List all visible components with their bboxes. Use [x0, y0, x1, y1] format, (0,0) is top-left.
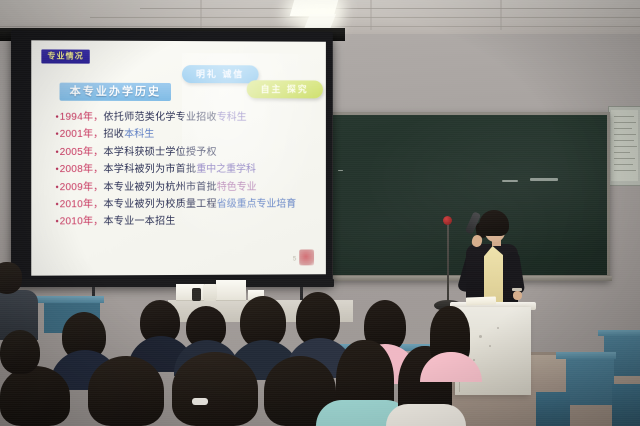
student-head — [0, 366, 70, 426]
bullet-highlight: 特色专业 — [217, 181, 257, 193]
student-shoulders — [386, 404, 466, 426]
slide-content: 专业情况 明礼 诚信 自主 探究 本专业办学历史 • 1994年， 依托师范类化… — [31, 40, 326, 275]
slide-section-header: 本专业办学历史 — [60, 83, 171, 101]
list-item: • 2010年， 本专业被列为校质量工程 省级重点专业培育 — [55, 198, 319, 212]
bullet-body: 本学科被列为市首批 — [103, 164, 196, 176]
list-item: • 2009年， 本专业被列为杭州市首批 特色专业 — [55, 180, 319, 193]
slide-pill-blue: 明礼 诚信 — [182, 65, 258, 83]
bullet-marker: • — [55, 198, 58, 210]
dark-object-on-table — [192, 288, 201, 301]
student-head — [172, 352, 258, 426]
classroom-photo: 专业情况 明礼 诚信 自主 探究 本专业办学历史 • 1994年， 依托师范类化… — [0, 0, 640, 426]
screen-bottom-bar — [12, 279, 334, 287]
white-cup — [203, 284, 217, 301]
bullet-body: 本专业被列为杭州市首批 — [103, 182, 216, 194]
presenter-hair — [479, 210, 509, 236]
wall-notice-board — [608, 106, 640, 186]
microphone-stand-pole — [447, 222, 449, 304]
bullet-year: 2009年， — [60, 182, 104, 194]
bullet-body: 本专业一本招生 — [103, 216, 175, 228]
student-desk-top — [556, 352, 616, 359]
list-item: • 2005年， 本学科获硕士学位授予权 — [55, 146, 319, 159]
bullet-year: 2010年， — [60, 199, 104, 211]
student-chair — [612, 384, 640, 426]
bullet-body: 本学科获硕士学位授予权 — [103, 147, 216, 159]
projector-screen: 专业情况 明礼 诚信 自主 探究 本专业办学历史 • 1994年， 依托师范类化… — [11, 30, 333, 286]
bullet-marker: • — [55, 111, 58, 123]
bullet-marker: • — [55, 163, 58, 175]
paper-stack — [216, 280, 246, 301]
red-seal-stamp — [299, 249, 314, 265]
bullet-year: 2005年， — [60, 147, 104, 159]
hair-clip — [192, 398, 208, 405]
slide-tag-label: 专业情况 — [41, 49, 89, 63]
bullet-marker: • — [55, 128, 58, 140]
chalk-mark — [502, 180, 518, 182]
chalk-mark — [530, 178, 558, 181]
slide-bullet-list: • 1994年， 依托师范类化学专业招收 专科生 • 2001年， 招收 本科生… — [55, 111, 319, 233]
bullet-year: 2008年， — [60, 164, 104, 176]
bullet-highlight: 省级重点专业培育 — [217, 199, 296, 211]
bullet-body: 招收 — [103, 129, 124, 141]
list-item: • 2001年， 招收 本科生 — [55, 128, 319, 141]
bullet-year: 1994年， — [60, 112, 104, 124]
student-desk — [566, 359, 614, 405]
slide-pill-green: 自主 探究 — [247, 80, 323, 98]
bullet-year: 2010年， — [60, 217, 104, 229]
chalk-mark — [338, 170, 343, 171]
list-item: • 2008年， 本学科被列为市首批 重中之重学科 — [55, 163, 319, 176]
bullet-year: 2001年， — [60, 129, 104, 141]
bullet-marker: • — [55, 181, 58, 193]
student-head — [88, 356, 164, 426]
presenter-wristwatch — [512, 288, 522, 291]
bullet-body: 本专业被列为校质量工程 — [103, 199, 216, 211]
bullet-highlight: 本科生 — [124, 129, 154, 141]
list-item: • 1994年， 依托师范类化学专业招收 专科生 — [55, 111, 319, 124]
list-item: • 2010年， 本专业一本招生 — [55, 215, 319, 229]
podium-papers — [466, 296, 496, 305]
projected-slide: 专业情况 明礼 诚信 自主 探究 本专业办学历史 • 1994年， 依托师范类化… — [31, 40, 326, 275]
student-chair — [536, 392, 570, 426]
slide-page-number: 5 — [293, 256, 296, 262]
student-head — [0, 330, 40, 374]
bullet-highlight: 重中之重学科 — [196, 164, 256, 176]
microphone-stand-head — [443, 216, 452, 225]
bullet-body: 依托师范类化学专业招收 — [103, 112, 216, 124]
bullet-marker: • — [55, 216, 58, 228]
presenter-right-hand — [513, 291, 522, 300]
bullet-highlight: 专科生 — [217, 112, 247, 124]
bullet-marker: • — [55, 146, 58, 158]
